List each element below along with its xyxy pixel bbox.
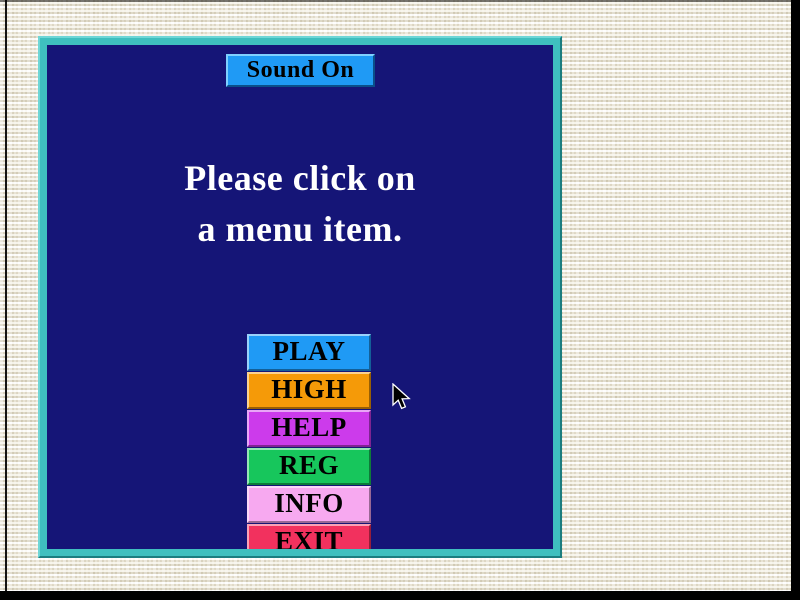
- menu-item-exit[interactable]: EXIT: [247, 524, 371, 549]
- menu-item-help[interactable]: HELP: [247, 410, 371, 447]
- game-window: Sound On Please click on a menu item. PL…: [0, 0, 800, 600]
- game-panel: Sound On Please click on a menu item. PL…: [47, 45, 553, 549]
- game-panel-border: Sound On Please click on a menu item. PL…: [38, 36, 562, 558]
- menu-item-play[interactable]: PLAY: [247, 334, 371, 371]
- sound-toggle-button[interactable]: Sound On: [226, 54, 375, 87]
- menu-item-info[interactable]: INFO: [247, 486, 371, 523]
- menu-item-reg[interactable]: REG: [247, 448, 371, 485]
- menu-item-high[interactable]: HIGH: [247, 372, 371, 409]
- mouse-cursor-arrow-icon: [392, 383, 414, 413]
- instruction-message-line-2: a menu item.: [47, 204, 553, 255]
- instruction-message-line-1: Please click on: [47, 153, 553, 204]
- window-frame-bottom: [0, 591, 800, 600]
- main-menu: PLAY HIGH HELP REG INFO EXIT: [247, 334, 371, 549]
- instruction-message: Please click on a menu item.: [47, 153, 553, 255]
- window-frame-top: [0, 0, 800, 2]
- window-frame-right: [791, 0, 800, 600]
- window-frame-left: [5, 0, 7, 600]
